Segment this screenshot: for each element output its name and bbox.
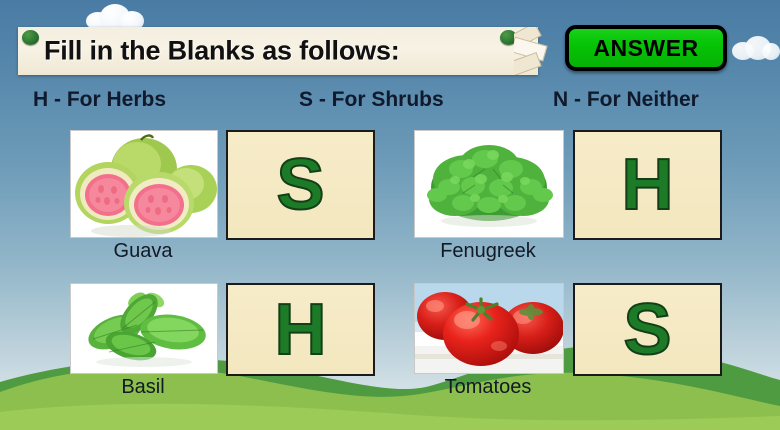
slide-canvas: Fill in the Blanks as follows: ANSWER H … [0,0,780,430]
legend-item-shrubs: S - For Shrubs [299,88,444,112]
cloud-right [732,36,780,62]
fenugreek-illustration [415,131,563,237]
guava-illustration [71,131,217,237]
guava-caption: Guava [70,240,216,263]
scroll-roll-edge [514,27,556,75]
banner-title: Fill in the Blanks as follows: [44,36,400,67]
fenugreek-caption: Fenugreek [414,240,562,263]
answer-letter-tomatoes: S [575,285,720,374]
answer-letter-fenugreek: H [575,132,720,238]
answer-letter-guava: S [228,132,373,238]
tomatoes-illustration [415,284,563,373]
legend-item-herbs: H - For Herbs [33,88,166,112]
pin-icon-left [22,30,39,45]
legend-item-neither: N - For Neither [553,88,699,112]
tomatoes-caption: Tomatoes [414,376,562,399]
basil-caption: Basil [70,376,216,399]
tomatoes-photo [414,283,564,374]
answer-card-tomatoes[interactable]: S [573,283,722,376]
title-banner: Fill in the Blanks as follows: [18,27,538,75]
answer-letter-basil: H [228,285,373,374]
answer-card-guava[interactable]: S [226,130,375,240]
guava-photo [70,130,218,238]
answer-button-label: ANSWER [593,35,698,62]
basil-illustration [71,284,217,373]
answer-card-fenugreek[interactable]: H [573,130,722,240]
fenugreek-photo [414,130,564,238]
answer-button[interactable]: ANSWER [565,25,727,71]
answer-card-basil[interactable]: H [226,283,375,376]
basil-photo [70,283,218,374]
